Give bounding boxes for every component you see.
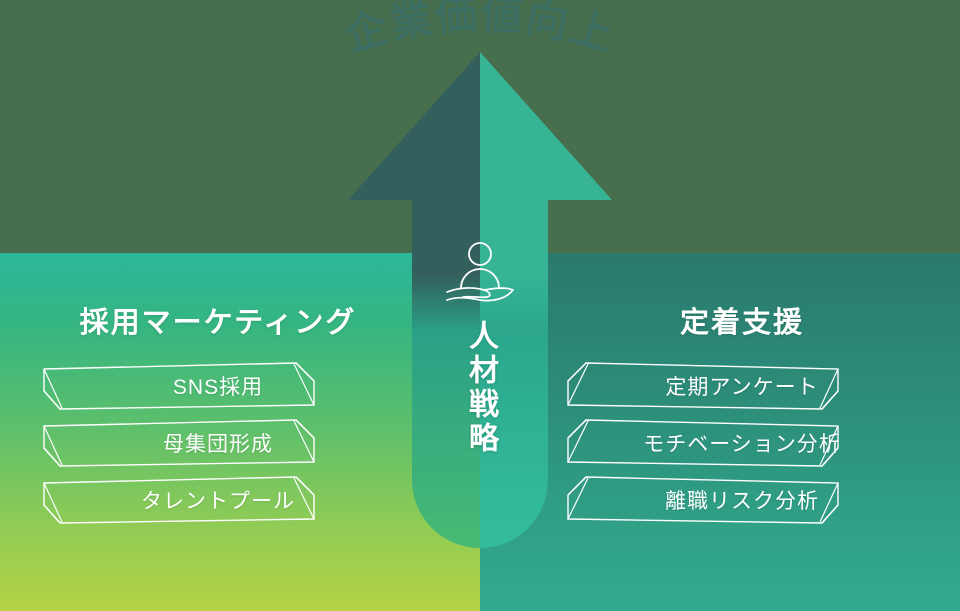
svg-text:企業価値向上: 企業価値向上 [340, 0, 621, 60]
column-heading-left: 採用マーケティング [38, 305, 398, 341]
tag-label: 定期アンケート [562, 361, 922, 411]
tag-label: 母集団形成 [38, 418, 398, 468]
column-retention-support: 定着支援 定期アンケート [562, 305, 922, 532]
tag-item[interactable]: SNS採用 [38, 361, 398, 411]
page-title-text: 企業価値向上 [340, 0, 621, 60]
tag-list-right: 定期アンケート モチベーション分析 [562, 361, 922, 525]
tag-label: モチベーション分析 [562, 418, 922, 468]
page-title: 企業価値向上 [0, 0, 960, 80]
tag-list-left: SNS採用 母集団形成 [38, 361, 398, 525]
tag-item[interactable]: 定期アンケート [562, 361, 922, 411]
tag-item[interactable]: モチベーション分析 [562, 418, 922, 468]
tag-item[interactable]: タレントプール [38, 475, 398, 525]
column-heading-right: 定着支援 [562, 305, 922, 341]
tag-label: SNS採用 [38, 361, 398, 411]
column-recruiting-marketing: 採用マーケティング SNS採用 [38, 305, 398, 532]
tag-label: 離職リスク分析 [562, 475, 922, 525]
tag-item[interactable]: 離職リスク分析 [562, 475, 922, 525]
tag-label: タレントプール [38, 475, 398, 525]
tag-item[interactable]: 母集団形成 [38, 418, 398, 468]
infographic-canvas: 企業価値向上 採用マーケティング SNS採用 [0, 0, 960, 611]
